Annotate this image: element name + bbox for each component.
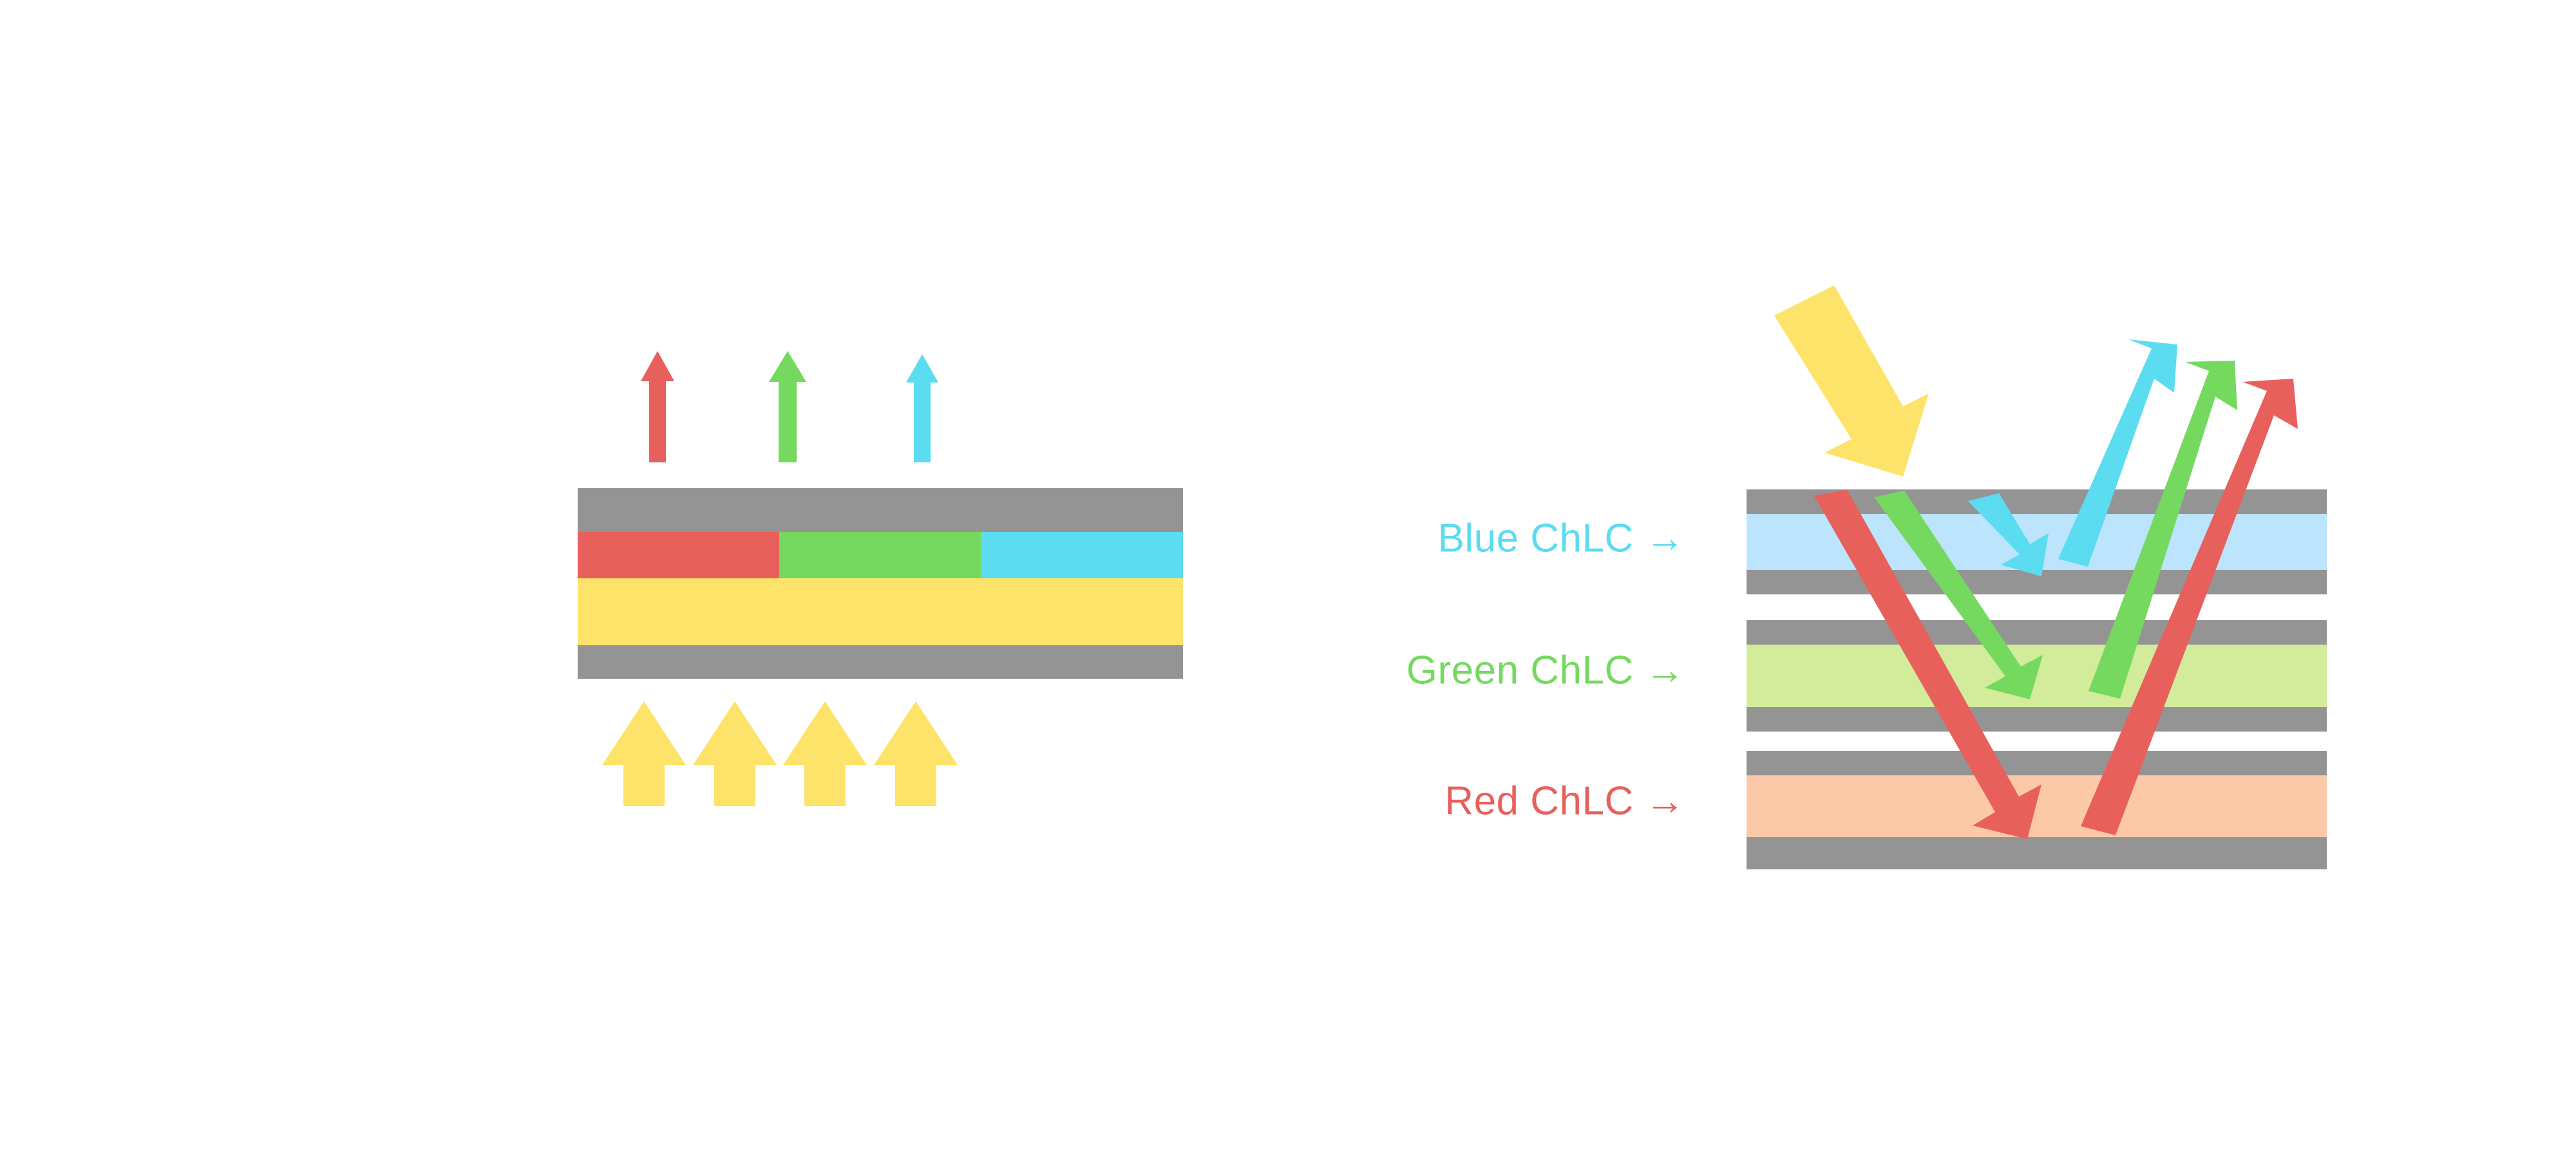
color-filter-row — [578, 532, 1183, 578]
blue-chlc-label-text: Blue ChLC → — [1437, 516, 1685, 560]
green-filter — [779, 532, 981, 578]
red-chlc-layer — [1747, 775, 2327, 837]
red-filter — [578, 532, 779, 578]
cyan-emitted-arrow — [906, 354, 938, 462]
left-panel — [578, 351, 1183, 806]
red-cell-bottom-electrode — [1747, 837, 2327, 869]
red-chlc-cell — [1747, 751, 2327, 869]
green-emitted-arrow — [769, 351, 806, 462]
red-chlc-label-text: Red ChLC → — [1444, 779, 1685, 823]
top-electrode — [578, 488, 1183, 532]
red-emitted-arrow — [641, 351, 674, 462]
ambient-light-arrow — [1774, 285, 1929, 477]
cyan-filter — [981, 532, 1183, 578]
red-cell-top-electrode — [1747, 751, 2327, 775]
backlight-arrow — [602, 701, 686, 806]
right-panel: Blue ChLC → Green ChLC → Red ChLC → — [1406, 285, 2327, 869]
green-chlc-label-text: Green ChLC → — [1406, 648, 1685, 692]
red-chlc-label: Red ChLC → — [1444, 779, 1685, 823]
chlc-diagram: Blue ChLC → Green ChLC → Red ChLC → — [0, 0, 2576, 1154]
bottom-electrode — [578, 645, 1183, 679]
backlight-layer — [578, 578, 1183, 645]
green-cell-top-electrode — [1747, 620, 2327, 645]
green-cell-bottom-electrode — [1747, 707, 2327, 732]
backlight-arrow — [783, 701, 867, 806]
blue-chlc-label: Blue ChLC → — [1437, 516, 1685, 560]
green-chlc-label: Green ChLC → — [1406, 648, 1685, 692]
backlight-arrow — [874, 701, 958, 806]
backlight-arrow-group — [602, 701, 958, 806]
diagram-canvas: Blue ChLC → Green ChLC → Red ChLC → — [0, 0, 2576, 1154]
backlight-arrow — [693, 701, 777, 806]
